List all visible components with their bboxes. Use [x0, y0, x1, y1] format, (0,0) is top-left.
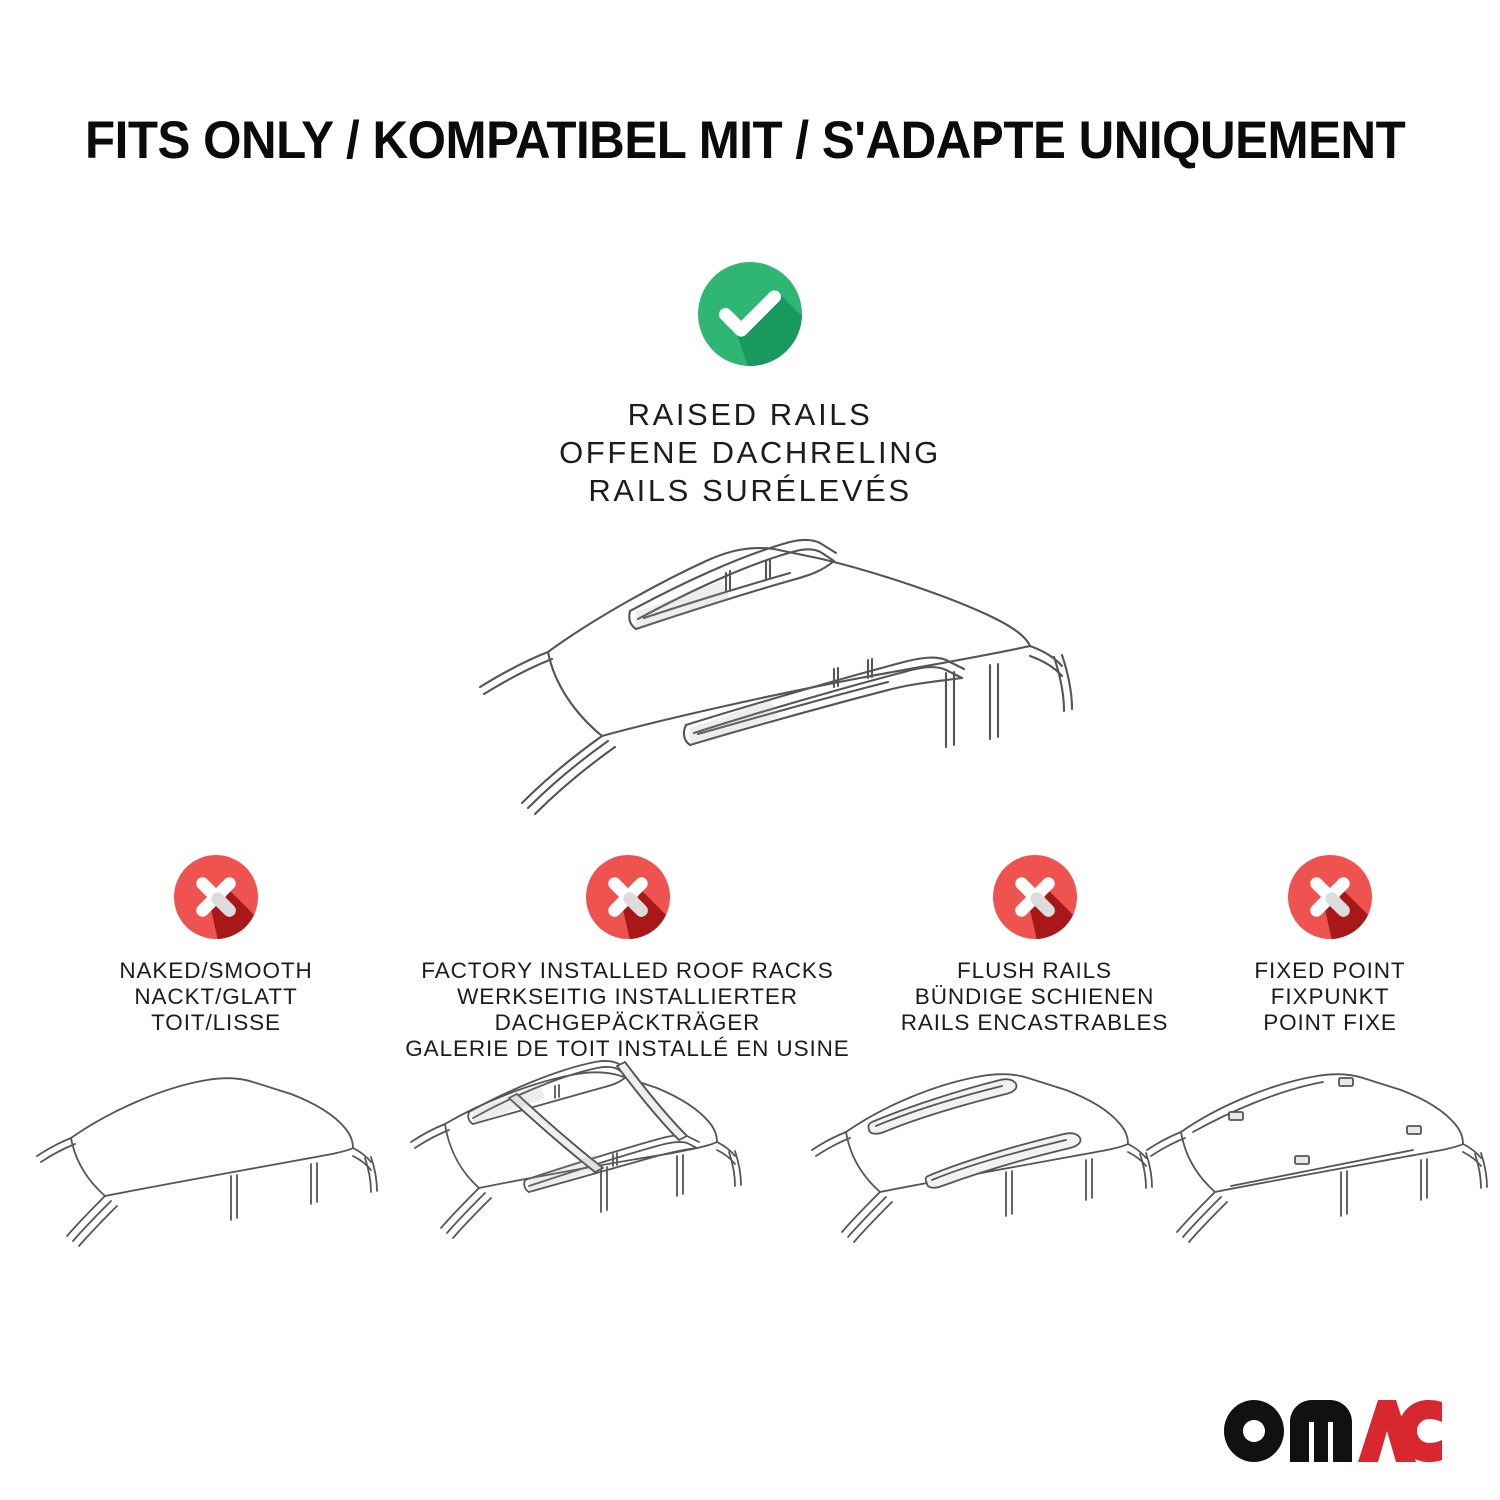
label-en: NAKED/SMOOTH	[56, 958, 376, 984]
compatible-label-en: RAISED RAILS	[375, 396, 1125, 434]
incompatible-section: NAKED/SMOOTH NACKT/GLATT TOIT/LISSE FACT…	[0, 855, 1500, 1065]
x-circle-icon	[174, 855, 258, 939]
incompatible-item-flush-rails: FLUSH RAILS BÜNDIGE SCHIENEN RAILS ENCAS…	[862, 855, 1207, 1036]
label-de: FIXPUNKT	[1185, 984, 1475, 1010]
incompatible-labels: FLUSH RAILS BÜNDIGE SCHIENEN RAILS ENCAS…	[862, 958, 1207, 1036]
car-roof-factory-racks-illustration	[405, 1060, 775, 1310]
label-de-1: WERKSEITIG INSTALLIERTER	[400, 984, 855, 1010]
label-fr: RAILS ENCASTRABLES	[862, 1010, 1207, 1036]
car-roof-fixed-point-illustration	[1145, 1060, 1500, 1310]
check-circle-icon	[698, 262, 802, 366]
incompatible-labels: FACTORY INSTALLED ROOF RACKS WERKSEITIG …	[400, 958, 855, 1062]
car-roof-flush-rails-illustration	[810, 1060, 1180, 1310]
incompatible-labels: NAKED/SMOOTH NACKT/GLATT TOIT/LISSE	[56, 958, 376, 1036]
x-circle-icon	[586, 855, 670, 939]
incompatible-item-naked-smooth: NAKED/SMOOTH NACKT/GLATT TOIT/LISSE	[56, 855, 376, 1036]
omac-logo	[1224, 1400, 1442, 1462]
label-en: FIXED POINT	[1185, 958, 1475, 984]
x-circle-icon	[993, 855, 1077, 939]
x-circle-icon	[1288, 855, 1372, 939]
label-en: FLUSH RAILS	[862, 958, 1207, 984]
incompatible-labels: FIXED POINT FIXPUNKT POINT FIXE	[1185, 958, 1475, 1036]
label-fr: GALERIE DE TOIT INSTALLÉ EN USINE	[400, 1036, 855, 1062]
compatible-label-de: OFFENE DACHRELING	[375, 434, 1125, 472]
label-de-2: DACHGEPÄCKTRÄGER	[400, 1010, 855, 1036]
page-title: FITS ONLY / KOMPATIBEL MIT / S'ADAPTE UN…	[85, 110, 1331, 172]
label-fr: POINT FIXE	[1185, 1010, 1475, 1036]
compatible-section: RAISED RAILS OFFENE DACHRELING RAILS SUR…	[375, 262, 1125, 510]
incompatible-item-factory-racks: FACTORY INSTALLED ROOF RACKS WERKSEITIG …	[400, 855, 855, 1062]
car-roof-naked-smooth-illustration	[35, 1060, 405, 1310]
label-de: BÜNDIGE SCHIENEN	[862, 984, 1207, 1010]
compatible-label-fr: RAILS SURÉLEVÉS	[375, 472, 1125, 510]
label-en: FACTORY INSTALLED ROOF RACKS	[400, 958, 855, 984]
car-roof-raised-rails-illustration	[430, 515, 1090, 835]
incompatible-item-fixed-point: FIXED POINT FIXPUNKT POINT FIXE	[1185, 855, 1475, 1036]
compatible-labels: RAISED RAILS OFFENE DACHRELING RAILS SUR…	[375, 396, 1125, 510]
label-fr: TOIT/LISSE	[56, 1010, 376, 1036]
label-de: NACKT/GLATT	[56, 984, 376, 1010]
